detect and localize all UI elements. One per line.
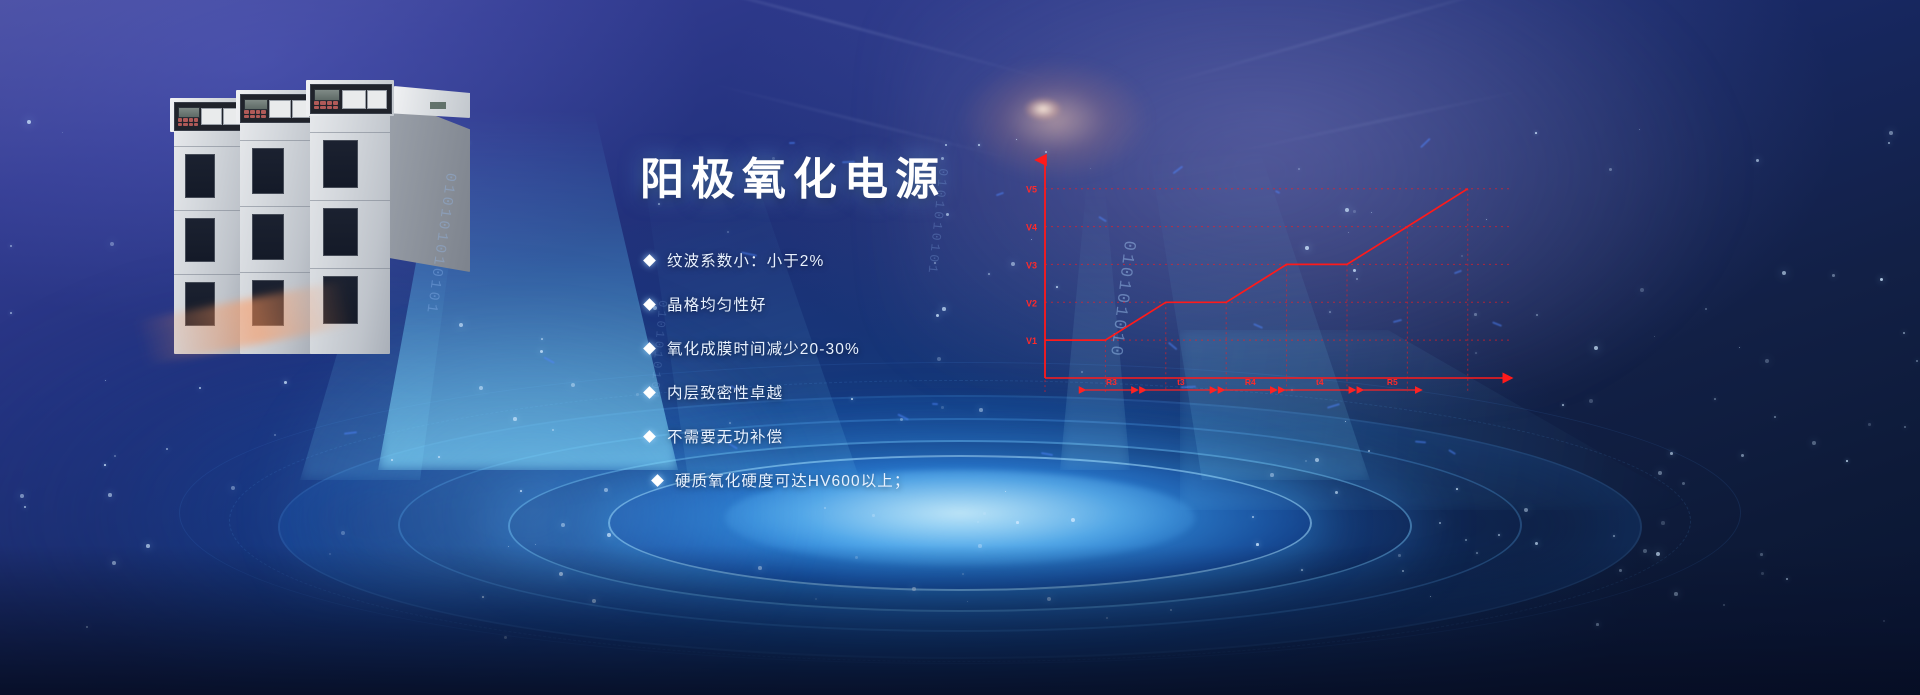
vent-panel (185, 282, 215, 326)
brand-mark (430, 102, 446, 109)
chart-vertical-guides (1045, 189, 1468, 392)
label-plate-3 (342, 90, 366, 109)
page-title: 阳极氧化电源 (640, 143, 946, 207)
label-plate-2 (269, 100, 291, 118)
keypad-1 (178, 118, 198, 126)
chart-segment-label: R5 (1387, 377, 1398, 387)
feature-text: 不需要无功补偿 (667, 425, 783, 447)
waveform-chart: V1V2V3V4V5 R3t3R4t4R5 (1000, 150, 1520, 400)
keypad-3 (314, 101, 338, 109)
display-screen-2 (244, 99, 268, 110)
vent-panel (323, 276, 358, 324)
chart-gridlines (1045, 189, 1512, 340)
diamond-bullet-icon (643, 298, 656, 311)
vent-panel (252, 148, 284, 194)
display-screen-1 (178, 107, 200, 118)
chart-segment-label: t4 (1316, 377, 1324, 387)
label-plate-1 (201, 108, 222, 125)
light-streak (608, 0, 1053, 81)
ground-shadow (0, 545, 1920, 695)
chart-y-tick-labels: V1V2V3V4V5 (1026, 185, 1037, 346)
feature-text: 内层致密性卓越 (667, 381, 783, 403)
chart-svg: V1V2V3V4V5 R3t3R4t4R5 (1000, 150, 1520, 400)
feature-text: 晶格均匀性好 (667, 293, 767, 315)
chart-y-tick: V1 (1026, 336, 1037, 346)
vent-panel (323, 208, 358, 256)
keypad-2 (244, 110, 266, 118)
chart-y-tick: V2 (1026, 298, 1037, 308)
list-item: 不需要无功补偿 (645, 414, 1105, 458)
vent-panel (252, 280, 284, 326)
diamond-bullet-icon (643, 254, 656, 267)
diamond-bullet-icon (643, 386, 656, 399)
diamond-bullet-icon (643, 342, 656, 355)
list-item: 硬质氧化硬度可达HV600以上； (645, 458, 1105, 502)
chart-y-tick: V5 (1026, 185, 1037, 195)
vent-panel (185, 154, 215, 198)
vent-panel (323, 140, 358, 188)
light-streak (1233, 89, 1527, 153)
chart-y-tick: V4 (1026, 223, 1037, 233)
lens-flare-core (1025, 98, 1061, 120)
chart-y-tick: V3 (1026, 260, 1037, 270)
chart-segment-label: R4 (1245, 377, 1256, 387)
vent-panel (252, 214, 284, 260)
vent-panel (185, 218, 215, 262)
diamond-bullet-icon (643, 430, 656, 443)
feature-text: 氧化成膜时间减少20-30% (667, 337, 860, 359)
feature-text: 纹波系数小：小于2% (667, 249, 824, 271)
banner-root: 010101010101 0101010101 010101010 010101… (0, 0, 1920, 695)
chart-segment-label: R3 (1106, 377, 1117, 387)
light-streak (1148, 0, 1552, 90)
feature-text: 硬质氧化硬度可达HV600以上； (675, 469, 911, 491)
cabinet-side (390, 98, 470, 272)
meter-plate-3 (367, 90, 387, 109)
display-screen-3 (314, 89, 340, 101)
diamond-bullet-icon (651, 474, 664, 487)
chart-segment-label: t3 (1177, 377, 1185, 387)
